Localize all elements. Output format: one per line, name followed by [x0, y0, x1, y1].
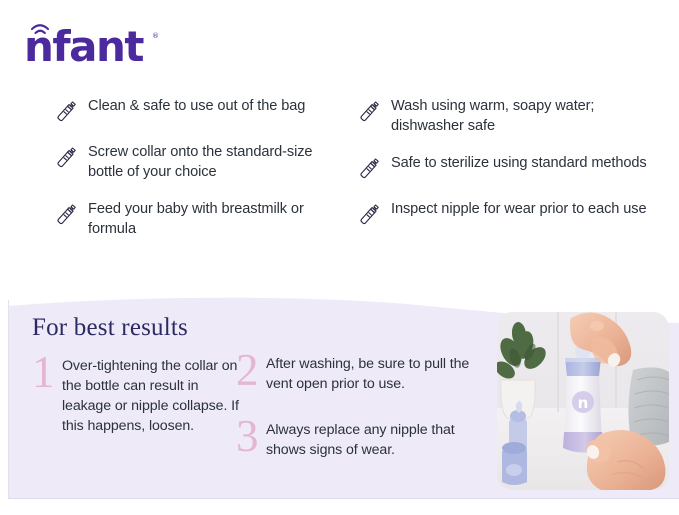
- feature-item: Feed your baby with breastmilk or formul…: [52, 199, 342, 239]
- bottle-logo-letter: n: [578, 394, 589, 412]
- feature-item: Inspect nipple for wear prior to each us…: [355, 199, 655, 228]
- feature-item: Screw collar onto the standard-size bott…: [52, 142, 342, 182]
- registered-trademark-mark: ®: [152, 32, 159, 40]
- step-number: 1: [32, 352, 62, 392]
- feature-column-right: Wash using warm, soapy water; dishwasher…: [355, 96, 655, 245]
- baby-bottle-icon: [52, 99, 80, 125]
- feature-item: Wash using warm, soapy water; dishwasher…: [355, 96, 655, 136]
- step-text: Over-tightening the collar on the bottle…: [62, 356, 242, 436]
- feature-text: Safe to sterilize using standard methods: [391, 153, 647, 173]
- feature-item: Clean & safe to use out of the bag: [52, 96, 342, 125]
- best-results-heading: For best results: [32, 314, 188, 342]
- feature-text: Screw collar onto the standard-size bott…: [88, 142, 342, 182]
- best-results-step: 1 Over-tightening the collar on the bott…: [32, 356, 242, 436]
- baby-bottle-icon: [52, 145, 80, 171]
- baby-bottle-icon: [52, 202, 80, 228]
- logo-wordmark: nfant: [24, 26, 143, 68]
- feature-column-left: Clean & safe to use out of the bag Screw…: [52, 96, 342, 256]
- brand-logo: nfant ®: [24, 18, 224, 70]
- feature-item: Safe to sterilize using standard methods: [355, 153, 655, 182]
- product-photo: n: [497, 312, 669, 490]
- feature-text: Inspect nipple for wear prior to each us…: [391, 199, 647, 219]
- feature-text: Clean & safe to use out of the bag: [88, 96, 305, 116]
- step-number: 3: [236, 416, 266, 456]
- best-results-panel: For best results 1 Over-tightening the c…: [8, 292, 679, 499]
- step-text: Always replace any nipple that shows sig…: [266, 420, 486, 460]
- feature-text: Feed your baby with breastmilk or formul…: [88, 199, 342, 239]
- baby-bottle-icon: [355, 202, 383, 228]
- step-text: After washing, be sure to pull the vent …: [266, 354, 486, 394]
- feature-list: Clean & safe to use out of the bag Screw…: [0, 96, 679, 286]
- feature-text: Wash using warm, soapy water; dishwasher…: [391, 96, 655, 136]
- baby-bottle-icon: [355, 99, 383, 125]
- step-number: 2: [236, 350, 266, 390]
- best-results-step: 3 Always replace any nipple that shows s…: [236, 420, 486, 460]
- baby-bottle-icon: [355, 156, 383, 182]
- best-results-step: 2 After washing, be sure to pull the ven…: [236, 354, 486, 394]
